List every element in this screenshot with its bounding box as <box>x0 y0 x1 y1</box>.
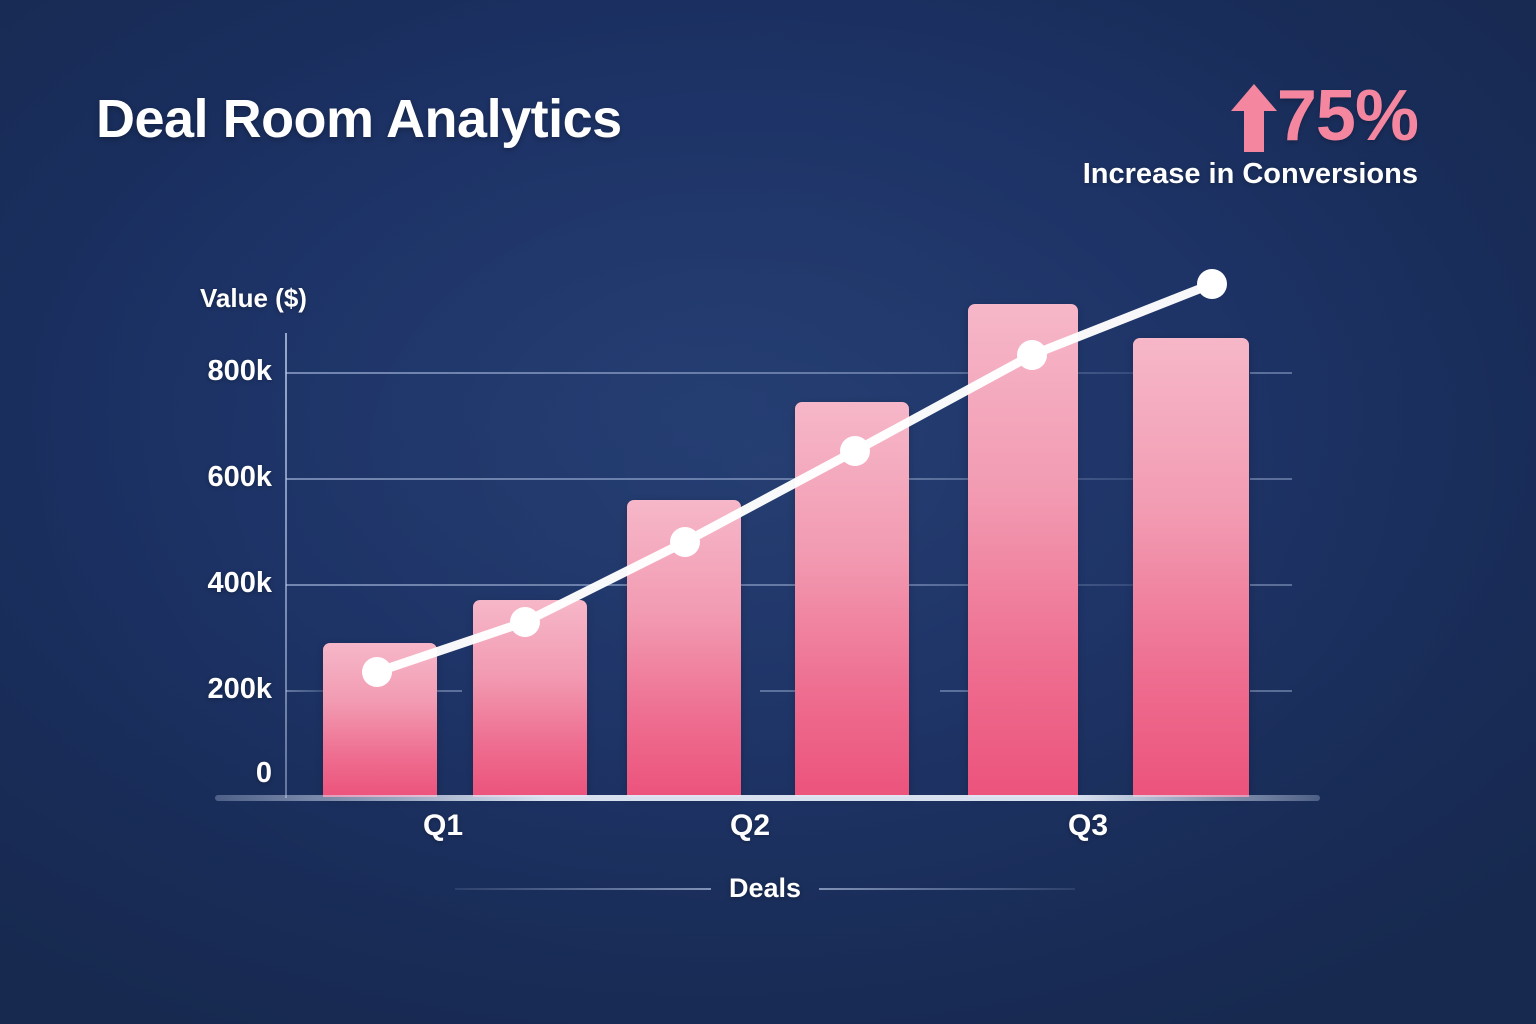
gridstub-400k <box>1250 584 1292 586</box>
ytick-label-800k: 800k <box>207 355 272 388</box>
bar-6[interactable] <box>1133 338 1249 797</box>
trend-line-chart <box>0 0 1536 1024</box>
bar-2[interactable] <box>473 600 587 797</box>
x-axis-title-group: Deals <box>455 873 1075 904</box>
chart-canvas: Deal Room Analytics 75% Increase in Conv… <box>0 0 1536 1024</box>
x-axis-title: Deals <box>729 873 801 904</box>
ytick-label-200k: 200k <box>207 673 272 706</box>
gridline-400k <box>286 584 1266 586</box>
x-axis-line <box>215 795 1320 801</box>
ytick-label-600k: 600k <box>207 461 272 494</box>
gridline-800k <box>286 372 1266 374</box>
gridstub-600k <box>1250 478 1292 480</box>
x-axis-rule-left <box>455 888 711 890</box>
xtick-label-q1: Q1 <box>423 809 463 843</box>
y-axis-title: Value ($) <box>200 283 307 314</box>
plot-area: Value ($) 800k 600k 400k 200k 0 <box>0 0 1536 1024</box>
bar-5[interactable] <box>968 304 1078 797</box>
trend-marker-6 <box>1197 269 1227 299</box>
y-axis-line <box>285 333 287 798</box>
xtick-label-q3: Q3 <box>1068 809 1108 843</box>
ytick-label-0: 0 <box>256 757 272 790</box>
gridline-600k <box>286 478 1266 480</box>
bar-1[interactable] <box>323 643 437 797</box>
x-axis-rule-right <box>819 888 1075 890</box>
ytick-label-400k: 400k <box>207 567 272 600</box>
gridstub-200k <box>1250 690 1292 692</box>
xtick-label-q2: Q2 <box>730 809 770 843</box>
gridstub-800k <box>1250 372 1292 374</box>
bar-4[interactable] <box>795 402 909 797</box>
bar-3[interactable] <box>627 500 741 797</box>
